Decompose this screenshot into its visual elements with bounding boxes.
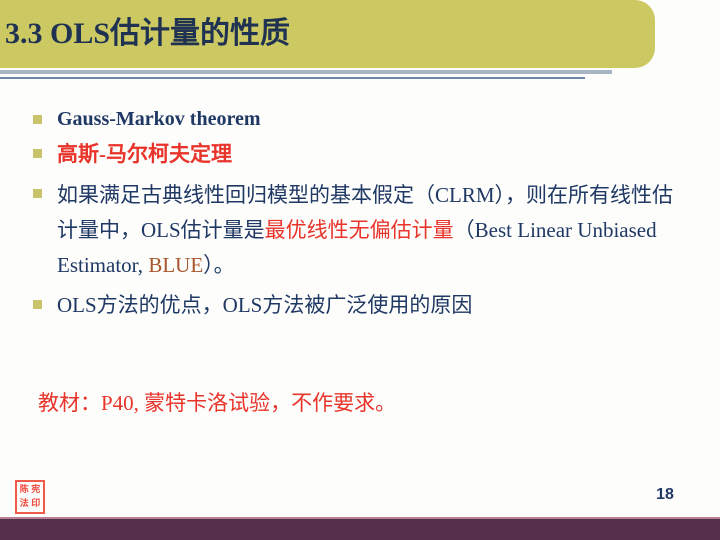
bullet-text-part3: ）。 [203, 253, 235, 277]
bullet-text: 高斯-马尔柯夫定理 [57, 138, 700, 170]
seal-character: 法 [19, 498, 30, 511]
square-bullet-icon [33, 115, 42, 124]
bullet-list: Gauss-Markov theorem 高斯-马尔柯夫定理 如果满足古典线性回… [0, 104, 700, 326]
slide-canvas: 3.3 OLS估计量的性质 Gauss-Markov theorem 高斯-马尔… [0, 0, 720, 540]
page-number: 18 [645, 486, 685, 504]
page-title: 3.3 OLS估计量的性质 [5, 14, 290, 54]
seal-character-grid: 陈 宪 法 印 [19, 484, 41, 510]
seal-character: 陈 [19, 484, 30, 497]
bullet-text-acronym: BLUE [148, 253, 203, 277]
list-item: 高斯-马尔柯夫定理 [0, 138, 700, 170]
bullet-text: Gauss-Markov theorem [57, 104, 700, 134]
square-bullet-icon [33, 300, 42, 309]
title-divider-lower [0, 77, 585, 79]
footer-bar [0, 519, 720, 540]
bullet-text: 如果满足古典线性回归模型的基本假定（CLRM），则在所有线性估计量中，OLS估计… [57, 178, 677, 283]
bullet-text-highlight: 最优线性无偏估计量 [265, 218, 454, 242]
title-divider-upper [0, 70, 612, 74]
seal-character: 宪 [31, 484, 42, 497]
bullet-text: OLS方法的优点，OLS方法被广泛使用的原因 [57, 289, 700, 322]
textbook-note: 教材：P40, 蒙特卡洛试验，不作要求。 [38, 388, 396, 418]
square-bullet-icon [33, 189, 42, 198]
square-bullet-icon [33, 149, 42, 158]
seal-character: 印 [31, 498, 42, 511]
list-item: OLS方法的优点，OLS方法被广泛使用的原因 [0, 289, 700, 322]
list-item: Gauss-Markov theorem [0, 104, 700, 134]
red-chinese-seal-icon: 陈 宪 法 印 [15, 480, 45, 514]
list-item: 如果满足古典线性回归模型的基本假定（CLRM），则在所有线性估计量中，OLS估计… [0, 178, 700, 283]
